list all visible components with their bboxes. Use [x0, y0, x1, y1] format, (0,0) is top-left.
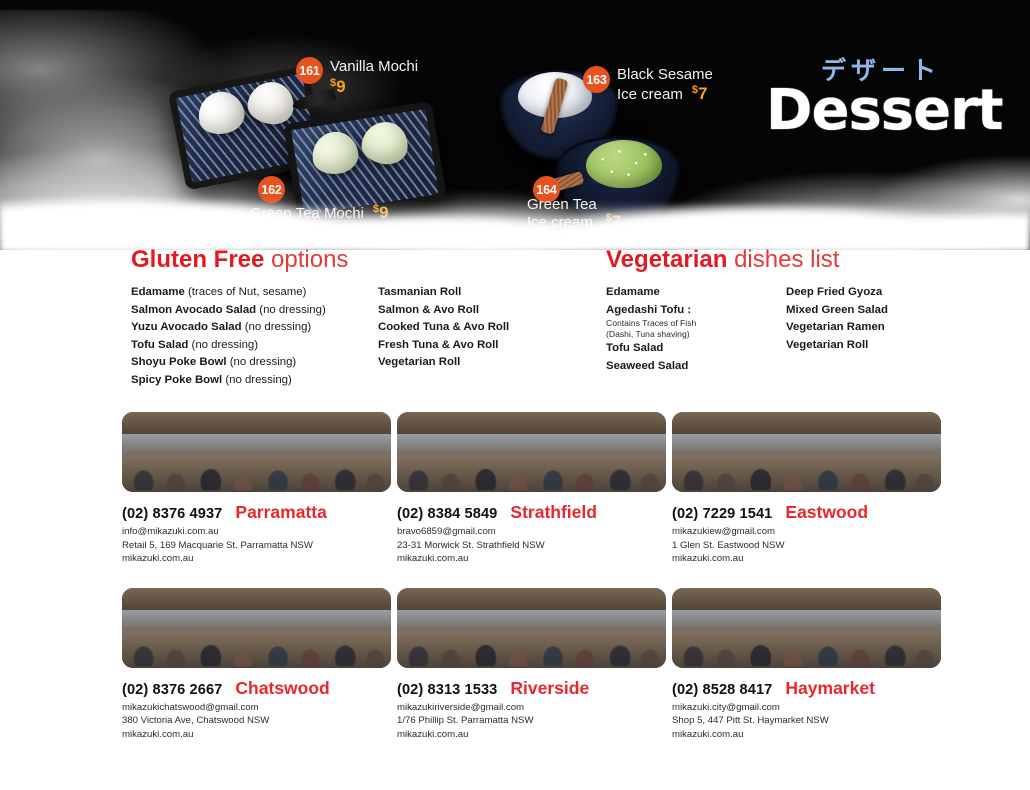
- phone-number[interactable]: (02) 7229 1541: [672, 506, 772, 522]
- website-url[interactable]: mikazuki.com.au: [397, 552, 667, 566]
- hero-white-transition: [0, 132, 1030, 250]
- suburb-name: Eastwood: [785, 502, 868, 523]
- vegetarian-heading-rest: dishes list: [727, 246, 839, 273]
- list-item: Salmon Avocado Salad (no dressing): [131, 302, 326, 320]
- restaurant-photo: [397, 412, 666, 492]
- email-address[interactable]: bravo6859@gmail.com: [397, 525, 667, 539]
- phone-number[interactable]: (02) 8376 4937: [122, 506, 222, 522]
- website-url[interactable]: mikazuki.com.au: [122, 552, 392, 566]
- list-item: Agedashi Tofu : Contains Traces of Fish …: [606, 302, 696, 340]
- website-url[interactable]: mikazuki.com.au: [397, 728, 667, 742]
- location-card-strathfield[interactable]: (02) 8384 5849 Strathfield bravo6859@gma…: [397, 412, 667, 566]
- email-address[interactable]: mikazukiriverside@gmail.com: [397, 701, 667, 715]
- restaurant-photo: [122, 412, 391, 492]
- vegetarian-heading: Vegetarian dishes list: [606, 248, 839, 272]
- item-price: $9: [330, 77, 418, 97]
- phone-number[interactable]: (02) 8313 1533: [397, 682, 497, 698]
- street-address: 1 Glen St. Eastwood NSW: [672, 539, 942, 553]
- dessert-hero-section: 161 Vanilla Mochi $9 162 Green Tea Mochi…: [0, 0, 1030, 250]
- item-number-badge: 161: [296, 57, 323, 84]
- suburb-name: Parramatta: [235, 502, 326, 523]
- street-address: Shop 5, 447 Pitt St. Haymarket NSW: [672, 714, 942, 728]
- location-card-riverside[interactable]: (02) 8313 1533 Riverside mikazukiriversi…: [397, 588, 667, 742]
- list-item: Vegetarian Ramen: [786, 319, 888, 337]
- list-item: Tofu Salad: [606, 340, 696, 358]
- restaurant-photo: [122, 588, 391, 668]
- street-address: 23-31 Morwick St. Strathfield NSW: [397, 539, 667, 553]
- restaurant-photo: [672, 588, 941, 668]
- dietary-options-section: Gluten Free options Edamame (traces of N…: [0, 240, 1030, 390]
- locations-section: (02) 8376 4937 Parramatta info@mikazuki.…: [0, 412, 1030, 742]
- location-card-eastwood[interactable]: (02) 7229 1541 Eastwood mikazukiew@gmail…: [672, 412, 942, 566]
- street-address: 380 Victoria Ave, Chatswood NSW: [122, 714, 392, 728]
- item-price: $7: [692, 84, 708, 104]
- suburb-name: Chatswood: [235, 678, 329, 699]
- gluten-free-heading-rest: options: [264, 246, 348, 273]
- gluten-free-heading: Gluten Free options: [131, 248, 348, 272]
- suburb-name: Strathfield: [510, 502, 597, 523]
- phone-number[interactable]: (02) 8528 8417: [672, 682, 772, 698]
- list-item: Tasmanian Roll: [378, 284, 509, 302]
- item-name-line1: Black Sesame: [617, 66, 713, 83]
- email-address[interactable]: info@mikazuki.com.au: [122, 525, 392, 539]
- email-address[interactable]: mikazuki.city@gmail.com: [672, 701, 942, 715]
- dessert-item-163: 163 Black Sesame Ice cream $7: [583, 66, 713, 104]
- gluten-free-column-1: Edamame (traces of Nut, sesame) Salmon A…: [131, 284, 326, 389]
- list-item-subnote: (Dashi, Tuna shaving): [606, 330, 696, 340]
- website-url[interactable]: mikazuki.com.au: [122, 728, 392, 742]
- locations-row-2: (02) 8376 2667 Chatswood mikazukichatswo…: [0, 588, 1030, 742]
- dessert-item-161: 161 Vanilla Mochi $9: [296, 57, 418, 97]
- list-item: Deep Fried Gyoza: [786, 284, 888, 302]
- restaurant-photo: [672, 412, 941, 492]
- list-item: Tofu Salad (no dressing): [131, 337, 326, 355]
- list-item: Vegetarian Roll: [378, 354, 509, 372]
- list-item: Mixed Green Salad: [786, 302, 888, 320]
- restaurant-photo: [397, 588, 666, 668]
- phone-number[interactable]: (02) 8384 5849: [397, 506, 497, 522]
- list-item-subnote: Contains Traces of Fish: [606, 319, 696, 329]
- email-address[interactable]: mikazukiew@gmail.com: [672, 525, 942, 539]
- item-name-line2: Ice cream: [617, 87, 683, 103]
- locations-row-1: (02) 8376 4937 Parramatta info@mikazuki.…: [0, 412, 1030, 566]
- email-address[interactable]: mikazukichatswood@gmail.com: [122, 701, 392, 715]
- list-item: Cooked Tuna & Avo Roll: [378, 319, 509, 337]
- phone-number[interactable]: (02) 8376 2667: [122, 682, 222, 698]
- list-item: Edamame: [606, 284, 696, 302]
- item-name: Vanilla Mochi: [330, 58, 418, 75]
- list-item: Edamame (traces of Nut, sesame): [131, 284, 326, 302]
- gluten-free-column-2: Tasmanian Roll Salmon & Avo Roll Cooked …: [378, 284, 509, 372]
- list-item: Yuzu Avocado Salad (no dressing): [131, 319, 326, 337]
- dessert-wordmark: Dessert: [766, 85, 996, 138]
- vegetarian-column-2: Deep Fried Gyoza Mixed Green Salad Veget…: [786, 284, 888, 354]
- street-address: 1/76 Phillip St. Parramatta NSW: [397, 714, 667, 728]
- menu-page: 161 Vanilla Mochi $9 162 Green Tea Mochi…: [0, 0, 1030, 790]
- list-item: Vegetarian Roll: [786, 337, 888, 355]
- suburb-name: Riverside: [510, 678, 589, 699]
- list-item: Fresh Tuna & Avo Roll: [378, 337, 509, 355]
- vegetarian-column-1: Edamame Agedashi Tofu : Contains Traces …: [606, 284, 696, 376]
- list-item: Salmon & Avo Roll: [378, 302, 509, 320]
- location-card-parramatta[interactable]: (02) 8376 4937 Parramatta info@mikazuki.…: [122, 412, 392, 566]
- location-card-chatswood[interactable]: (02) 8376 2667 Chatswood mikazukichatswo…: [122, 588, 392, 742]
- gluten-free-heading-highlight: Gluten Free: [131, 246, 264, 273]
- suburb-name: Haymarket: [785, 678, 875, 699]
- list-item: Spicy Poke Bowl (no dressing): [131, 372, 326, 390]
- dessert-logo: デザート Dessert: [766, 58, 996, 138]
- location-card-haymarket[interactable]: (02) 8528 8417 Haymarket mikazuki.city@g…: [672, 588, 942, 742]
- list-item: Shoyu Poke Bowl (no dressing): [131, 354, 326, 372]
- street-address: Retail 5, 169 Macquarie St. Parramatta N…: [122, 539, 392, 553]
- list-item: Seaweed Salad: [606, 358, 696, 376]
- website-url[interactable]: mikazuki.com.au: [672, 552, 942, 566]
- vegetarian-heading-highlight: Vegetarian: [606, 246, 727, 273]
- item-number-badge: 163: [583, 66, 610, 93]
- website-url[interactable]: mikazuki.com.au: [672, 728, 942, 742]
